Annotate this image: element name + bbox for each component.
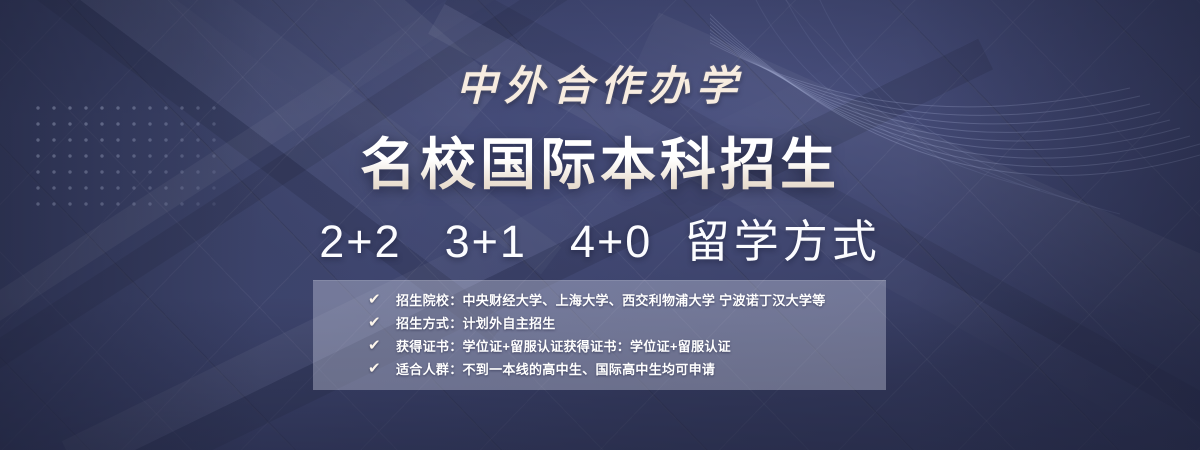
info-row-text: 招生方式：计划外自主招生 [396,313,556,332]
check-icon: ✔ [368,361,396,376]
check-icon: ✔ [368,338,396,353]
list-item: ✔ 招生方式：计划外自主招生 [368,311,876,333]
list-item: ✔ 招生院校：中央财经大学、上海大学、西交利物浦大学 宁波诺丁汉大学等 [368,288,876,310]
promo-banner: 中外合作办学 名校国际本科招生 2+2 3+1 4+0 留学方式 ✔ 招生院校：… [0,0,1200,450]
check-icon: ✔ [368,315,396,330]
headline-script: 中外合作办学 [0,52,1200,112]
headline-study-modes: 2+2 3+1 4+0 留学方式 [0,205,1200,270]
headline-main: 名校国际本科招生 [0,120,1200,201]
mode-4plus0: 4+0 [570,216,652,267]
info-row-text: 获得证书：学位证+留服认证获得证书：学位证+留服认证 [396,336,731,355]
info-row-text: 适合人群：不到一本线的高中生、国际高中生均可申请 [396,359,715,378]
info-row-text: 招生院校：中央财经大学、上海大学、西交利物浦大学 宁波诺丁汉大学等 [396,290,826,309]
list-item: ✔ 适合人群：不到一本线的高中生、国际高中生均可申请 [368,357,876,379]
mode-3plus1: 3+1 [445,216,527,267]
mode-2plus2: 2+2 [319,216,401,267]
banner-content: 中外合作办学 名校国际本科招生 2+2 3+1 4+0 留学方式 ✔ 招生院校：… [0,0,1200,450]
mode-suffix-label: 留学方式 [685,216,881,267]
list-item: ✔ 获得证书：学位证+留服认证获得证书：学位证+留服认证 [368,334,876,356]
check-icon: ✔ [368,292,396,307]
info-panel: ✔ 招生院校：中央财经大学、上海大学、西交利物浦大学 宁波诺丁汉大学等 ✔ 招生… [313,280,886,390]
info-list: ✔ 招生院校：中央财经大学、上海大学、西交利物浦大学 宁波诺丁汉大学等 ✔ 招生… [368,288,876,380]
